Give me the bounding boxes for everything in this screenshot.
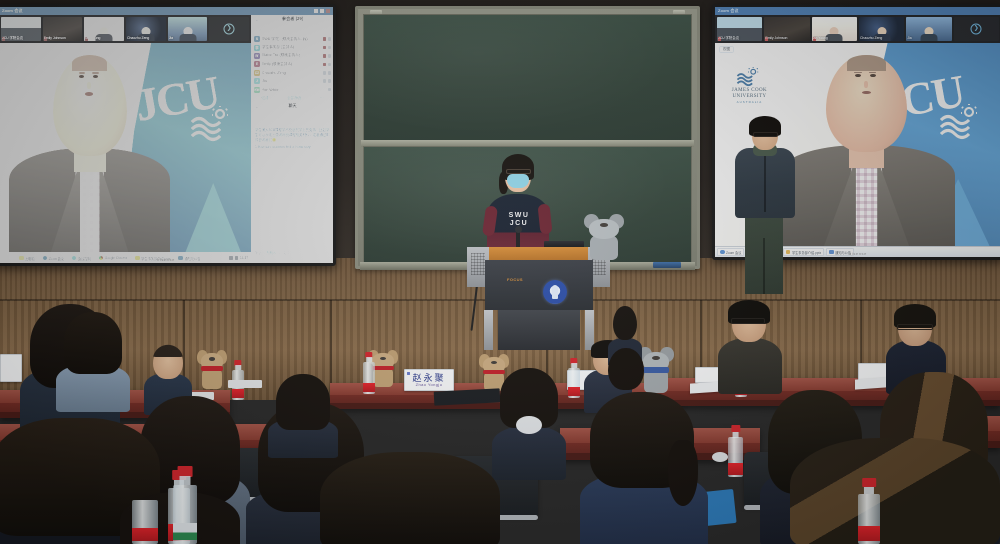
chat-recipient-select[interactable]: 所有人 — [267, 250, 277, 255]
avatar: S — [254, 36, 260, 42]
plush-dog-3 — [199, 352, 225, 388]
standing-person-glasses — [753, 132, 778, 137]
audience-member-front-3 — [790, 438, 1000, 544]
thumbnail-name: JCU 学院会议 — [2, 36, 40, 41]
audience-head — [608, 348, 644, 390]
bottle-body — [858, 494, 880, 544]
plush-koala-podium — [586, 217, 622, 259]
taskbar-item-label: 学生事务部介绍.pptx — [792, 250, 821, 255]
left-display-screen[interactable]: Zoom 会议 JCU 学院会议 — [0, 4, 336, 266]
taskbar-item-label: 通知与公告 — [184, 256, 200, 261]
speaker-brow-right — [869, 72, 876, 74]
video-icon[interactable] — [328, 37, 332, 41]
system-tray[interactable]: 14:37 — [229, 256, 249, 260]
folder-icon — [19, 256, 24, 261]
taskbar-item-label: Zoom 会议 — [49, 256, 64, 261]
right-display-brand-label: hisense — [849, 251, 867, 256]
podium-leg-left — [484, 310, 493, 350]
chevron-right-icon[interactable]: ❯ — [971, 24, 982, 35]
podium-base — [498, 310, 580, 350]
podium-front-panel: FOCUS — [485, 260, 593, 310]
thumbnail-participant-2[interactable]: Emily Johnson — [43, 17, 83, 41]
blackboard-eraser — [653, 262, 681, 268]
avatar: CZ — [254, 70, 260, 76]
participant-row[interactable]: 学 学生事务部 (主持人) — [254, 43, 331, 51]
mic-icon[interactable] — [323, 71, 327, 75]
bottle-body — [363, 362, 375, 394]
zoom-titlebar-left[interactable]: Zoom 会议 — [0, 7, 333, 15]
thumbnail-participant-4[interactable]: Chaozhu Zeng — [859, 17, 904, 41]
participant-controls[interactable] — [323, 46, 332, 50]
participant-filmstrip-right[interactable]: JCU 学院会议 Emily Johnson Ian Young — [715, 15, 1000, 43]
view-button[interactable]: 视图 — [719, 46, 734, 53]
chat-message: 1.How can students find a home stay — [255, 145, 330, 150]
bottle-label — [363, 383, 375, 393]
mute-all-button[interactable]: 全部静音 — [287, 96, 301, 101]
plush-collar — [201, 366, 223, 371]
mic-muted-icon[interactable] — [323, 63, 327, 67]
taskbar-item-3[interactable]: 会议控制 — [69, 254, 94, 262]
start-button[interactable] — [1, 254, 14, 262]
bottle-body — [728, 437, 743, 477]
mic-icon[interactable] — [323, 79, 327, 83]
standing-person-right — [735, 118, 795, 294]
participant-list[interactable]: S SWU 学院...(联席主持人, 我) 学 学生事务部 (主持人) IY — [252, 35, 333, 94]
notice-icon — [829, 250, 834, 255]
bottle-label — [173, 523, 197, 541]
speaker-brow-left — [79, 72, 86, 74]
audience-hair — [276, 374, 330, 430]
participant-name: Chaozhu Zeng — [262, 71, 321, 75]
chevron-right-icon[interactable]: ❯ — [224, 24, 235, 35]
university-crest-icon — [543, 280, 567, 304]
minimize-icon[interactable] — [314, 9, 318, 13]
notice-icon — [178, 256, 183, 261]
participant-controls[interactable] — [323, 37, 332, 41]
audience-glasses — [897, 324, 933, 330]
taskbar-item-2[interactable]: Zoom 会议 — [40, 254, 67, 262]
avatar: J — [254, 78, 260, 84]
participant-name: 学生事务部 (主持人) — [262, 45, 321, 50]
video-icon[interactable] — [328, 54, 332, 58]
lecture-hall-photo: Zoom 会议 JCU 学院会议 — [0, 0, 1000, 544]
meeting-controls-icon — [72, 256, 77, 261]
search-placeholder: 搜索参会者 — [264, 27, 282, 32]
powerpoint-icon — [135, 256, 140, 261]
network-icon[interactable] — [229, 256, 233, 260]
water-bottle-9 — [858, 478, 880, 544]
audience-torso — [492, 426, 566, 480]
shirt-line-1: SWU — [499, 212, 539, 220]
left-display-brand-label: hisense — [157, 257, 175, 262]
audience-member-mid-4 — [56, 312, 130, 408]
mic-muted-icon[interactable] — [323, 54, 327, 58]
chat-message: 学生涌入JCU课程学不充足的学上的支持。比如学生可以从线上查询网页课程相关材料，… — [255, 128, 330, 143]
water-bottle-1 — [363, 352, 375, 394]
bottle-body — [173, 485, 197, 544]
panel-more-icon[interactable]: ··· — [320, 96, 324, 100]
chevron-down-icon[interactable]: ⌄ — [278, 251, 281, 255]
thumbnail-name: Jia — [169, 36, 207, 41]
participants-title: 参会者 (29) — [282, 16, 303, 22]
thumbnail-participant-4[interactable]: Chaozhu Zeng — [126, 17, 166, 41]
jcu-wave-logo-icon — [190, 106, 238, 144]
participant-controls[interactable] — [323, 63, 332, 67]
chat-input[interactable]: 输入消息... — [255, 257, 330, 262]
avatar: 学 — [254, 45, 260, 51]
face-mask-icon — [507, 174, 529, 188]
jcu-name-line3: AUSTRALIA — [726, 100, 772, 104]
clock[interactable]: 14:37 — [240, 256, 248, 260]
audience-member-mid-7 — [492, 368, 566, 478]
zoom-active-speaker-video: JCU — [0, 43, 251, 252]
water-bottle-8 — [173, 466, 197, 544]
audience-hair-long — [790, 438, 1000, 544]
participant-name: Elaine Tse (联席主持人) — [262, 53, 321, 58]
thumbnail-participant-1[interactable]: JCU 学院会议 — [717, 17, 762, 41]
participant-row[interactable]: CZ Chaozhu Zeng — [254, 69, 331, 77]
audience-hair-long — [320, 452, 500, 544]
plush-collar — [372, 366, 394, 371]
participant-row[interactable]: J Jia — [254, 77, 331, 85]
taskbar-item-label: 此电脑 — [25, 256, 35, 261]
zoom-application-left[interactable]: Zoom 会议 JCU 学院会议 — [0, 7, 333, 263]
chat-file-button[interactable]: 文件 — [283, 250, 289, 255]
speaker-eye-right — [870, 74, 876, 77]
participant-name: Emily (联席主持人) — [262, 62, 321, 67]
chat-message: JCU — [255, 120, 330, 125]
thumbnail-participant-3[interactable]: Ian Young — [812, 17, 857, 41]
ponytail — [668, 440, 698, 506]
participant-name: SWU 学院...(联席主持人, 我) — [262, 37, 321, 42]
video-icon[interactable] — [328, 46, 332, 50]
invite-button[interactable]: 邀请 — [261, 96, 268, 101]
plush-head — [589, 219, 619, 239]
remote-speaker-person — [9, 51, 170, 252]
speaker-eye-left — [855, 74, 861, 77]
zoom-icon — [43, 256, 48, 261]
speaker-eye-right — [93, 75, 98, 78]
taskbar-item-4[interactable]: Google Chrome — [96, 254, 131, 262]
mic-muted-icon[interactable] — [323, 37, 327, 41]
participant-controls[interactable] — [323, 71, 332, 75]
windows-taskbar-left[interactable]: 此电脑 Zoom 会议 会议控制 — [0, 252, 251, 263]
zoom-titlebar-right[interactable]: Zoom 会议 — [715, 7, 1000, 15]
podium-microphone — [516, 229, 520, 249]
audience-member-far-3 — [718, 302, 782, 390]
plush-torso — [590, 235, 617, 259]
volume-icon[interactable] — [235, 256, 239, 260]
thumbnail-next-page[interactable]: ❯ — [954, 17, 999, 41]
jcu-crest-icon — [736, 67, 762, 87]
audience-member-far-1 — [144, 343, 192, 403]
thumbnail-name: Emily Johnson — [44, 36, 82, 41]
water-bottle-10 — [728, 425, 743, 477]
podium-brand-text: FOCUS — [507, 277, 523, 282]
maximize-icon[interactable] — [320, 9, 324, 13]
name-card-primary: 赵永聚 Zhao Yongju — [404, 369, 454, 391]
taskbar-item-label: Google Chrome — [105, 256, 128, 260]
jcu-corner-logo: JAMES COOK UNIVERSITY AUSTRALIA — [726, 67, 772, 104]
thumbnail-next-page[interactable]: ❯ — [209, 17, 249, 41]
plush-snout — [209, 357, 215, 360]
zoom-side-panel[interactable]: ⌄ 参会者 (29) 搜索参会者 S — [251, 15, 333, 263]
audience-head — [613, 306, 637, 340]
bottle-label — [858, 526, 880, 541]
thumbnail-name: Chaozhu Zeng — [860, 36, 903, 41]
thumbnail-participant-1[interactable]: JCU 学院会议 — [1, 17, 41, 41]
blackboard-panel-top — [363, 14, 692, 142]
plush-snout — [380, 357, 386, 360]
chevron-down-icon[interactable]: ⌄ — [255, 17, 258, 22]
video-icon[interactable] — [328, 79, 332, 83]
search-icon — [258, 28, 262, 32]
chat-header: ⌄ 聊天 — [252, 103, 333, 111]
participant-name: Ken White — [262, 88, 326, 92]
speaker-grille — [471, 253, 485, 275]
thumbnail-name: Ian Young — [85, 36, 123, 41]
video-icon[interactable] — [328, 71, 332, 75]
water-bottle-3 — [568, 358, 580, 398]
speaker-nose — [864, 81, 868, 88]
bottle-label — [728, 463, 743, 475]
remote-speaker-person — [778, 51, 955, 246]
speaker-mouth — [85, 92, 93, 96]
speaker-head — [53, 55, 127, 155]
thumbnail-participant-5[interactable]: Jia — [168, 17, 208, 41]
plush-snout — [652, 356, 660, 360]
speaker-hair — [847, 55, 886, 71]
mic-muted-icon[interactable] — [323, 46, 327, 50]
bottle-label — [132, 528, 158, 541]
participant-row[interactable]: E Emily (联席主持人) — [254, 60, 331, 68]
audience-member-mid-5 — [268, 374, 338, 454]
audience-glasses — [731, 318, 765, 324]
bottle-body — [568, 368, 580, 398]
audience-member-mid-11 — [600, 348, 652, 402]
participant-name: Jia — [262, 79, 321, 83]
speaker-mouth — [862, 91, 871, 94]
avatar: E — [254, 61, 260, 67]
zoom-icon — [720, 250, 725, 255]
participant-controls[interactable] — [323, 54, 332, 58]
participant-filmstrip-left[interactable]: JCU 学院会议 Emily Johnson Ian Young — [0, 15, 251, 43]
name-card-pinyin: Zhao Yongju — [416, 383, 443, 387]
participant-row[interactable]: S SWU 学院...(联席主持人, 我) — [254, 35, 331, 43]
chat-title: 聊天 — [289, 103, 297, 109]
chat-message-list: 来自 Ian Young 发送给 所有人: JCU 学生涌入JCU课程学不充足的… — [252, 111, 333, 248]
water-bottle-7 — [132, 500, 158, 544]
zoom-window-title: Zoom 会议 — [2, 8, 23, 14]
zoom-window-title: Zoom 会议 — [718, 8, 739, 14]
chat-to-label: 发至： — [255, 250, 265, 255]
chat-composer[interactable]: 发至： 所有人 ⌄ 文件 ··· 输入消息... — [252, 248, 333, 264]
avatar: IY — [254, 53, 260, 59]
podium-desktop-surface — [485, 247, 593, 260]
chrome-icon — [99, 256, 104, 261]
thumbnail-participant-2[interactable]: Emily Johnson — [764, 17, 809, 41]
audience-hair — [64, 312, 122, 374]
plush-snout — [491, 361, 497, 364]
avatar: KW — [254, 87, 260, 93]
speaker-brow-right — [92, 72, 99, 74]
speaker-head — [826, 55, 908, 152]
thumbnail-participant-3[interactable]: Ian Young — [84, 17, 124, 41]
bottle-body — [132, 500, 158, 544]
chevron-down-icon[interactable]: ⌄ — [255, 104, 258, 109]
participant-search-input[interactable]: 搜索参会者 — [255, 26, 330, 33]
speaker-brow-left — [854, 72, 861, 74]
audience-member-mid-6 — [580, 392, 708, 544]
audience-torso — [718, 338, 782, 394]
participant-row[interactable]: IY Elaine Tse (联席主持人) — [254, 52, 331, 60]
bottle-label — [568, 387, 580, 396]
close-icon[interactable] — [326, 9, 330, 13]
window-controls[interactable] — [314, 9, 330, 13]
taskbar-item-1[interactable]: 此电脑 — [16, 254, 38, 262]
video-icon[interactable] — [328, 63, 332, 67]
speaker-eye-left — [79, 75, 84, 78]
speaker-nose — [87, 82, 91, 89]
participant-action-buttons[interactable]: 邀请 全部静音 ··· — [252, 94, 333, 103]
chat-message: 来自 Ian Young 发送给 所有人: — [255, 113, 330, 118]
thumbnail-name: Jia — [907, 36, 950, 41]
audience-member-front-2 — [320, 452, 500, 544]
computer-mouse — [712, 452, 728, 462]
participant-controls[interactable] — [328, 88, 332, 92]
thumbnail-name: JCU 学院会议 — [718, 36, 761, 41]
mic-icon[interactable] — [328, 88, 332, 92]
thumbnail-name: Ian Young — [813, 36, 856, 41]
participant-row[interactable]: KW Ken White — [254, 85, 331, 93]
taskbar-item-6[interactable]: 通知与公告 — [175, 254, 203, 262]
taskbar-item-label: 会议控制 — [78, 256, 91, 261]
participant-controls[interactable] — [323, 79, 332, 83]
hair-tie — [516, 416, 542, 434]
standing-person-leg-split — [763, 238, 765, 294]
paper-sheet-3 — [228, 380, 262, 388]
name-card-logo-icon — [407, 372, 410, 375]
thumbnail-name: Chaozhu Zeng — [127, 36, 165, 41]
thumbnail-participant-5[interactable]: Jia — [906, 17, 951, 41]
lectern-podium: FOCUS — [468, 247, 610, 347]
zoom-video-stage-left: JCU 学院会议 Emily Johnson Ian Young — [0, 15, 251, 263]
standing-person-zipper — [764, 154, 766, 212]
plush-snout — [600, 223, 608, 227]
audience-hair-bald — [151, 343, 185, 357]
thumbnail-name: Emily Johnson — [765, 36, 808, 41]
speaker-hair — [72, 55, 108, 71]
participants-header: ⌄ 参会者 (29) — [252, 15, 333, 24]
chat-more-button[interactable]: ··· — [291, 251, 294, 255]
